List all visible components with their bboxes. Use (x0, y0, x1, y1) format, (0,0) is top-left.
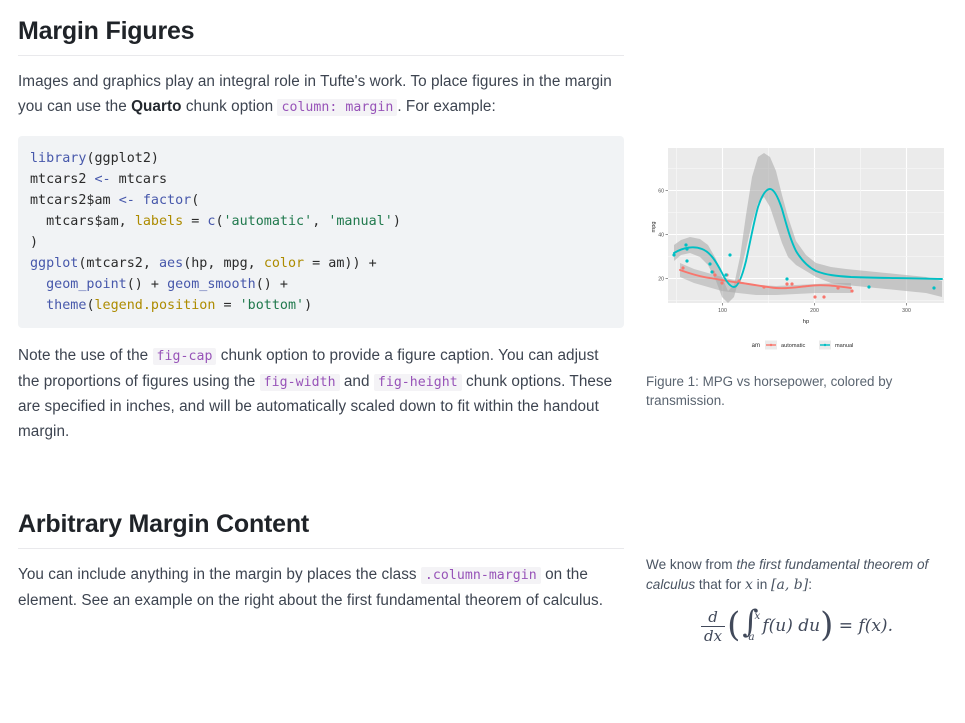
margin-note-text-b: that for (695, 577, 745, 592)
margin-note-text-c: in (753, 577, 771, 592)
page-title: Margin Figures (18, 0, 624, 55)
legend-entry-automatic[interactable]: automatic (765, 341, 805, 350)
code-token: <- (119, 193, 135, 208)
code-token: mtcars$am, (30, 214, 135, 229)
code-token: geom_point (46, 277, 127, 292)
code-token: , (312, 214, 328, 229)
intro-paragraph: Images and graphics play an integral rol… (18, 70, 624, 120)
margin-note-calculus: We know from the first fundamental theor… (646, 555, 946, 595)
legend-entry-manual[interactable]: manual (819, 341, 853, 350)
y-tick-label-60: 60 (658, 188, 664, 194)
figcap-text-c: and (340, 373, 374, 390)
math-variable-x: x (745, 577, 753, 593)
code-token: ggplot (30, 256, 78, 271)
chart-y-axis: 60 40 20 mpg (651, 188, 668, 282)
inline-code-fig-cap: fig-cap (153, 348, 217, 365)
legend-key-automatic-point (770, 344, 772, 346)
math-display-ftc: d dx (∫xaf(u) du) = f(x). (646, 609, 946, 644)
math-derivative-fraction: d dx (701, 609, 725, 644)
math-interval-ab: [a, b] (771, 577, 808, 593)
legend-title: am (752, 343, 760, 349)
math-left-paren: ( (727, 612, 740, 640)
y-tick-label-40: 40 (658, 232, 664, 238)
code-token (30, 277, 46, 292)
code-token: () + (127, 277, 167, 292)
margin-top-spacer (646, 0, 946, 142)
code-token: = (215, 298, 239, 313)
code-token: color (264, 256, 304, 271)
math-frac-denominator: dx (701, 626, 725, 644)
code-token: ( (215, 214, 223, 229)
ggplot-scatter-svg: 60 40 20 mpg (646, 145, 946, 360)
arbitrary-margin-paragraph: You can include anything in the margin b… (18, 563, 624, 613)
quarto-strong: Quarto (131, 98, 181, 115)
code-token: ) (304, 298, 312, 313)
margin-figure-mpg-vs-hp[interactable]: 60 40 20 mpg (646, 145, 946, 360)
math-frac-numerator: d (701, 609, 725, 626)
code-token: ( (191, 193, 199, 208)
code-token: (hp, mpg, (183, 256, 264, 271)
code-token: mtcars2$am (30, 193, 119, 208)
code-token (30, 298, 46, 313)
chart-x-axis: 100 200 300 hp (718, 303, 911, 325)
figure-caption: Figure 1: MPG vs horsepower, colored by … (646, 372, 946, 410)
code-token: 'manual' (328, 214, 393, 229)
r-code-content: library(ggplot2) mtcars2 <- mtcars mtcar… (30, 151, 401, 313)
code-token: (mtcars2, (78, 256, 159, 271)
math-rhs: f(x). (858, 616, 893, 636)
chart-legend[interactable]: am automatic manual (752, 341, 854, 350)
code-token: () + (256, 277, 288, 292)
figcap-paragraph: Note the use of the fig-cap chunk option… (18, 344, 624, 444)
code-token: <- (95, 172, 111, 187)
math-right-paren: ) (820, 612, 833, 640)
figcap-text-a: Note the use of the (18, 347, 153, 364)
section-title-arbitrary-margin-content: Arbitrary Margin Content (18, 493, 624, 548)
math-integral: ∫xa (740, 610, 762, 644)
legend-label-manual: manual (835, 343, 853, 349)
code-token: = am)) + (304, 256, 377, 271)
y-tick-label-20: 20 (658, 276, 664, 282)
margin-content-column: 60 40 20 mpg (646, 0, 946, 644)
x-tick-label-100: 100 (718, 308, 727, 314)
margin-note-text-a: We know from (646, 557, 736, 572)
code-token: ( (86, 298, 94, 313)
code-token: 'automatic' (224, 214, 313, 229)
code-token (135, 193, 143, 208)
r-code-block[interactable]: library(ggplot2) mtcars2 <- mtcars mtcar… (18, 136, 624, 328)
code-token: 'bottom' (240, 298, 305, 313)
x-axis-title: hp (803, 319, 809, 325)
code-token: mtcars (111, 172, 167, 187)
intro-text-c: . For example: (397, 98, 495, 115)
code-token: aes (159, 256, 183, 271)
x-tick-label-300: 300 (902, 308, 911, 314)
heading-rule-2 (18, 548, 624, 549)
code-token: legend.position (95, 298, 216, 313)
inline-code-fig-height: fig-height (374, 374, 462, 391)
intro-text-b: chunk option (182, 98, 278, 115)
inline-code-column-margin-class: .column-margin (421, 567, 541, 584)
code-token: library (30, 151, 86, 166)
legend-key-manual-point (824, 344, 826, 346)
section-spacer (18, 448, 624, 493)
code-token: ) (30, 235, 38, 250)
code-token: ) (393, 214, 401, 229)
code-token: mtcars2 (30, 172, 95, 187)
margin-note-text-d: : (808, 577, 812, 592)
inline-code-column-margin: column: margin (277, 99, 397, 116)
integral-lower-limit: a (748, 631, 754, 643)
heading-rule-1 (18, 55, 624, 56)
math-equals-sign: = (839, 616, 853, 636)
arbitrary-text-a: You can include anything in the margin b… (18, 566, 421, 583)
legend-label-automatic: automatic (781, 343, 805, 349)
code-token: = (183, 214, 207, 229)
math-integrand: f(u) du (762, 616, 820, 636)
code-token: (ggplot2) (86, 151, 159, 166)
code-token: theme (46, 298, 86, 313)
margin-mid-spacer (646, 410, 946, 555)
y-axis-title: mpg (651, 222, 657, 233)
code-token: labels (135, 214, 183, 229)
code-token: factor (143, 193, 191, 208)
inline-code-fig-width: fig-width (260, 374, 340, 391)
integral-upper-limit: x (754, 610, 760, 622)
code-token: geom_smooth (167, 277, 256, 292)
main-content-column: Margin Figures Images and graphics play … (18, 0, 624, 617)
x-tick-label-200: 200 (810, 308, 819, 314)
page-root: Margin Figures Images and graphics play … (0, 0, 965, 723)
